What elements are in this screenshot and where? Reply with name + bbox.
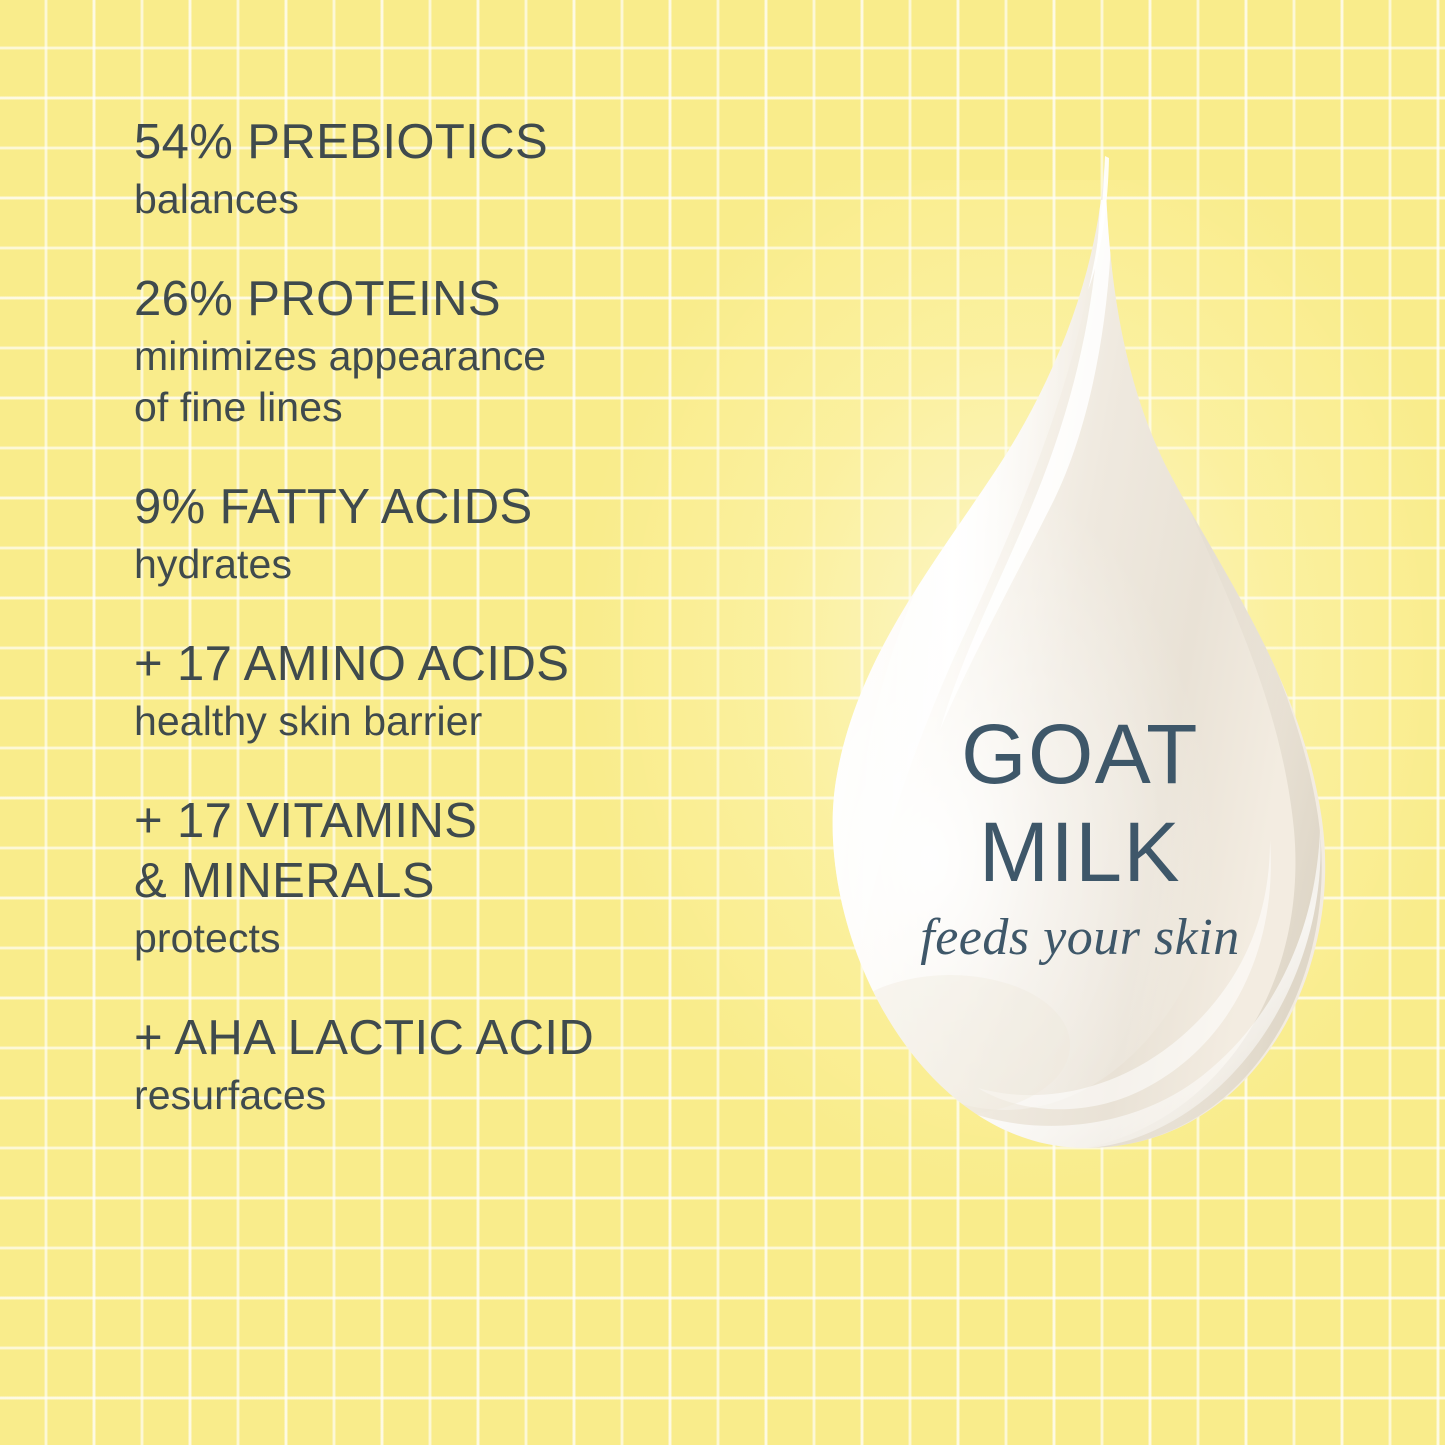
droplet-brand-name: GOAT MILK <box>800 712 1360 894</box>
claim-item-proteins: 26% PROTEINS minimizes appearance of fin… <box>134 269 814 433</box>
droplet-bottom-left-shade <box>830 975 1070 1115</box>
claim-benefit: resurfaces <box>134 1070 814 1121</box>
milk-droplet-graphic: GOAT MILK feeds your skin <box>800 140 1360 1170</box>
claim-item-vitamins-minerals: + 17 VITAMINS & MINERALS protects <box>134 791 814 964</box>
claim-benefit: minimizes appearance of fine lines <box>134 331 814 433</box>
droplet-tagline: feeds your skin <box>800 910 1360 966</box>
claims-list: 54% PREBIOTICS balances 26% PROTEINS min… <box>134 112 814 1121</box>
milk-droplet-icon <box>800 140 1360 1170</box>
brand-line-goat: GOAT <box>961 707 1199 801</box>
claim-benefit: healthy skin barrier <box>134 696 814 747</box>
claim-headline: + 17 AMINO ACIDS <box>134 634 814 694</box>
claim-benefit: hydrates <box>134 539 814 590</box>
claim-item-aha-lactic-acid: + AHA LACTIC ACID resurfaces <box>134 1008 814 1121</box>
claim-headline: + 17 VITAMINS & MINERALS <box>134 791 814 911</box>
claim-item-prebiotics: 54% PREBIOTICS balances <box>134 112 814 225</box>
claim-headline: 54% PREBIOTICS <box>134 112 814 172</box>
claim-item-fatty-acids: 9% FATTY ACIDS hydrates <box>134 477 814 590</box>
claim-headline: 26% PROTEINS <box>134 269 814 329</box>
goat-milk-ingredient-infographic: 54% PREBIOTICS balances 26% PROTEINS min… <box>0 0 1445 1445</box>
claim-item-amino-acids: + 17 AMINO ACIDS healthy skin barrier <box>134 634 814 747</box>
brand-line-milk: MILK <box>800 810 1360 894</box>
claim-benefit: balances <box>134 174 814 225</box>
claim-headline: 9% FATTY ACIDS <box>134 477 814 537</box>
claim-headline: + AHA LACTIC ACID <box>134 1008 814 1068</box>
claim-benefit: protects <box>134 913 814 964</box>
